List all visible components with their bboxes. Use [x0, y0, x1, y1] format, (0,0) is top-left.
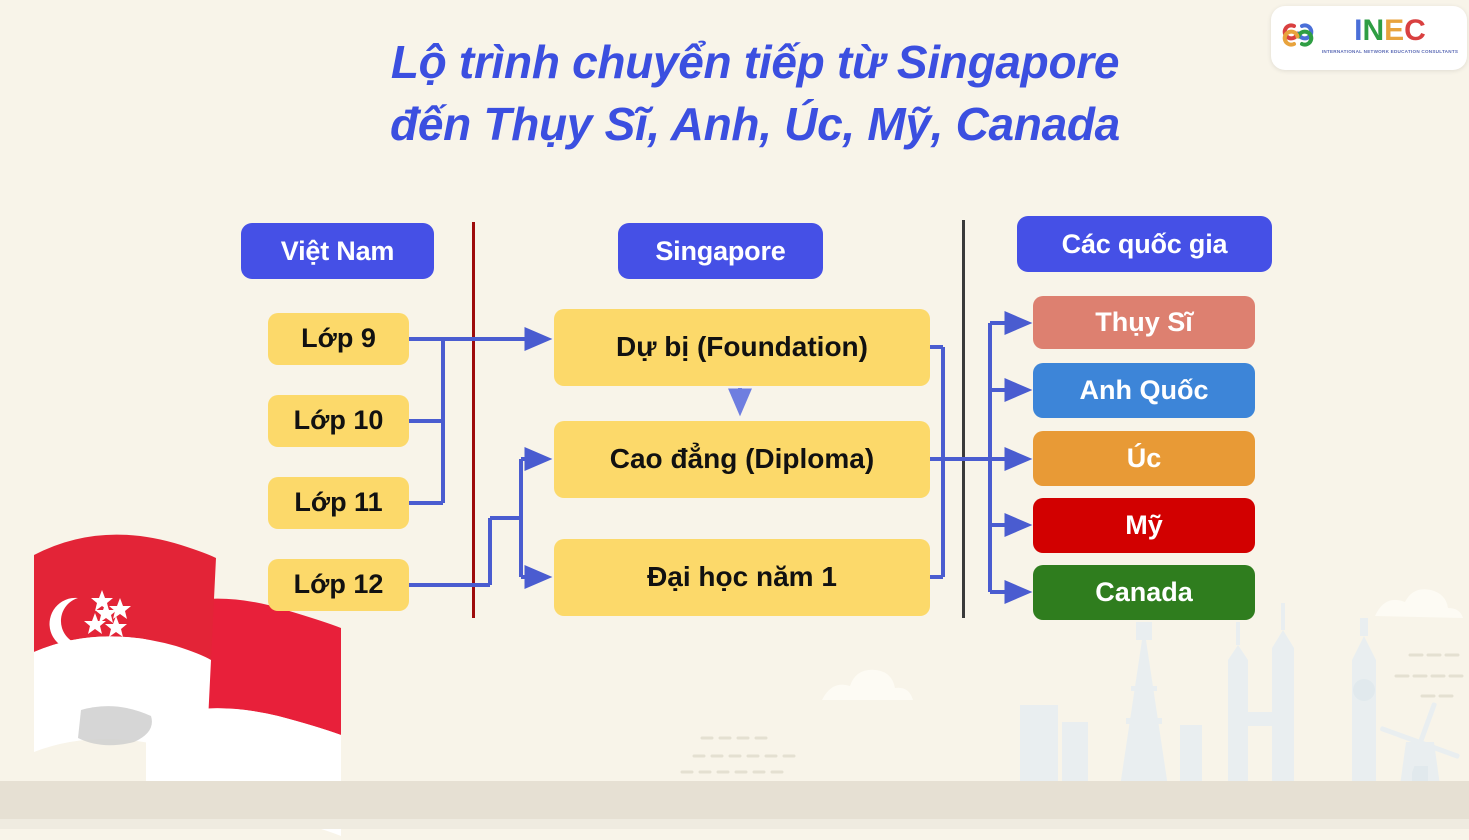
node-vn-grade-12[interactable]: Lớp 12 [268, 559, 409, 611]
node-vn-grade-11[interactable]: Lớp 11 [268, 477, 409, 529]
singapore-flag-front [34, 535, 216, 762]
node-country-uk-label: Anh Quốc [1080, 376, 1209, 406]
landmarks-group [1020, 600, 1469, 800]
singapore-flag-back [146, 599, 341, 836]
node-sg-diploma-label: Cao đẳng (Diploma) [610, 444, 874, 475]
node-sg-university-year-1[interactable]: Đại học năm 1 [554, 539, 930, 616]
node-country-uk[interactable]: Anh Quốc [1033, 363, 1255, 418]
logo-letter-e: E [1384, 14, 1404, 47]
column-header-vietnam: Việt Nam [241, 223, 434, 279]
page-title-line2: đến Thụy Sĩ, Anh, Úc, Mỹ, Canada [255, 94, 1255, 156]
node-vn-grade-10[interactable]: Lớp 10 [268, 395, 409, 447]
ground-strip [0, 781, 1469, 829]
petronas-towers-icon [1228, 603, 1294, 800]
node-country-switzerland[interactable]: Thụy Sĩ [1033, 296, 1255, 349]
eiffel-tower-icon [1118, 600, 1170, 800]
node-sg-foundation-label: Dự bị (Foundation) [616, 332, 868, 363]
node-country-switzerland-label: Thụy Sĩ [1095, 308, 1193, 338]
big-ben-icon [1346, 618, 1382, 800]
inec-flower-mark-icon [1280, 18, 1316, 52]
node-country-australia[interactable]: Úc [1033, 431, 1255, 486]
column-header-countries: Các quốc gia [1017, 216, 1272, 272]
wire-singapore-to-countries [930, 323, 1026, 592]
column-header-vietnam-label: Việt Nam [281, 236, 394, 267]
column-header-singapore-label: Singapore [655, 236, 785, 267]
node-sg-university-year-1-label: Đại học năm 1 [647, 562, 837, 593]
node-country-australia-label: Úc [1127, 444, 1162, 474]
singapore-countries-divider [962, 220, 965, 618]
node-vn-grade-9[interactable]: Lớp 9 [268, 313, 409, 365]
column-header-singapore: Singapore [618, 223, 823, 279]
node-country-usa[interactable]: Mỹ [1033, 498, 1255, 553]
ground-edge-strip [0, 819, 1469, 829]
column-header-countries-label: Các quốc gia [1062, 229, 1228, 260]
node-vn-grade-10-label: Lớp 10 [294, 406, 384, 436]
crescent-icon [50, 598, 92, 650]
node-sg-diploma[interactable]: Cao đẳng (Diploma) [554, 421, 930, 498]
node-vn-grade-11-label: Lớp 11 [294, 488, 382, 518]
windmill-icon [1366, 688, 1469, 800]
node-sg-foundation[interactable]: Dự bị (Foundation) [554, 309, 930, 386]
wire-vn-grades-to-foundation [409, 339, 546, 503]
node-vn-grade-12-label: Lớp 12 [294, 570, 384, 600]
logo-letter-c: C [1404, 14, 1426, 47]
wire-grade12-to-diploma-and-university [409, 459, 546, 585]
node-country-usa-label: Mỹ [1125, 511, 1163, 541]
page-title: Lộ trình chuyển tiếp từ Singapore đến Th… [255, 32, 1255, 155]
dash-marks-group [682, 655, 1462, 772]
infographic-canvas: Lộ trình chuyển tiếp từ Singapore đến Th… [0, 0, 1469, 829]
vietnam-singapore-divider [472, 222, 475, 618]
node-vn-grade-9-label: Lớp 9 [301, 324, 376, 354]
page-title-line1: Lộ trình chuyển tiếp từ Singapore [255, 32, 1255, 94]
inec-logo-wordmark: INEC [1354, 16, 1426, 46]
node-country-canada[interactable]: Canada [1033, 565, 1255, 620]
flag-shadow [78, 706, 152, 745]
node-country-canada-label: Canada [1095, 578, 1193, 608]
stars-group [84, 590, 131, 637]
logo-letter-n: N [1362, 14, 1384, 47]
inec-logo: INEC INTERNATIONAL NETWORK EDUCATION CON… [1271, 6, 1467, 70]
inec-logo-tagline: INTERNATIONAL NETWORK EDUCATION CONSULTA… [1322, 49, 1458, 54]
